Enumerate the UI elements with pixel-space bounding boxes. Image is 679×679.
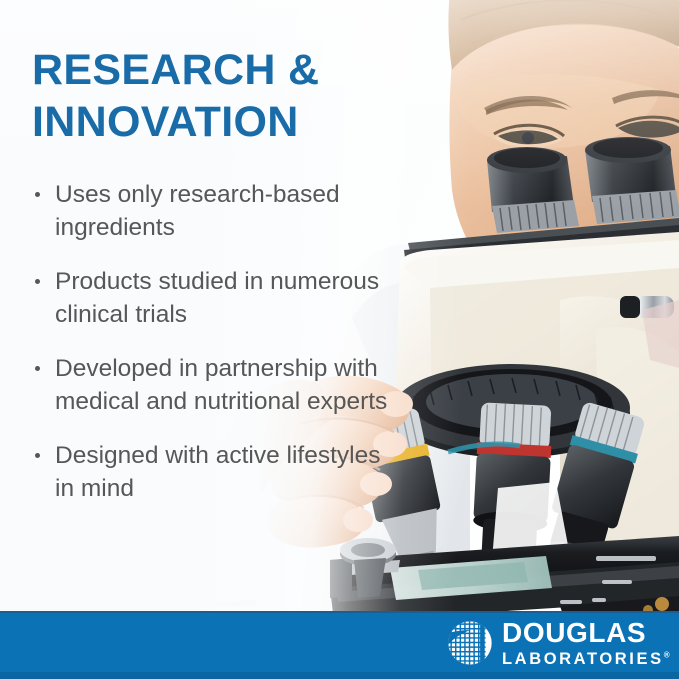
list-item: Developed in partnership with medical an… (29, 352, 401, 418)
list-item: Uses only research-based ingredients (29, 178, 401, 244)
logo-wordmark: DOUGLAS LABORATORIES® (502, 619, 670, 668)
bullet-dot-icon (35, 453, 40, 458)
bullet-dot-icon (35, 366, 40, 371)
logo-primary-text: DOUGLAS (502, 619, 670, 647)
bullet-dot-icon (35, 279, 40, 284)
list-item: Designed with active lifestyles in mind (29, 439, 401, 505)
logo-secondary-text: LABORATORIES® (502, 651, 670, 668)
list-item-label: Uses only research-based ingredients (55, 181, 340, 241)
bullet-dot-icon (35, 192, 40, 197)
list-item-label: Products studied in numerous clinical tr… (55, 268, 379, 328)
douglas-laboratories-logo: DOUGLAS LABORATORIES® (447, 619, 670, 668)
research-innovation-poster: RESEARCH & INNOVATION Uses only research… (0, 0, 679, 679)
list-item-label: Designed with active lifestyles in mind (55, 442, 380, 502)
globe-grid-logo-icon (447, 620, 493, 666)
brand-footer-bar: DOUGLAS LABORATORIES® (0, 611, 679, 679)
poster-content: RESEARCH & INNOVATION Uses only research… (0, 0, 679, 613)
feature-list: Uses only research-based ingredients Pro… (29, 178, 401, 505)
list-item: Products studied in numerous clinical tr… (29, 265, 401, 331)
list-item-label: Developed in partnership with medical an… (55, 355, 387, 415)
registered-mark-icon: ® (664, 651, 670, 660)
page-title: RESEARCH & INNOVATION (32, 44, 392, 148)
